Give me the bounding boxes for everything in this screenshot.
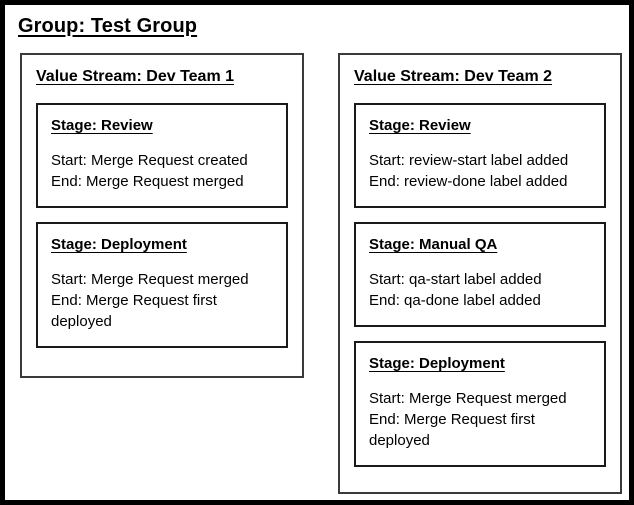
stage-start-event: Start: Merge Request merged (51, 269, 273, 290)
diagram-canvas: Group: Test Group Value Stream: Dev Team… (0, 0, 634, 505)
stage-title: Stage: Deployment (51, 236, 273, 253)
value-stream-panel: Value Stream: Dev Team 1 Stage: Review S… (20, 53, 304, 378)
value-stream-panel: Value Stream: Dev Team 2 Stage: Review S… (338, 53, 622, 494)
stage-box: Stage: Review Start: Merge Request creat… (36, 103, 288, 208)
stage-box: Stage: Deployment Start: Merge Request m… (36, 222, 288, 348)
stage-list: Stage: Review Start: Merge Request creat… (36, 103, 288, 348)
stage-end-event: End: Merge Request merged (51, 171, 273, 192)
value-stream-title: Value Stream: Dev Team 1 (36, 68, 234, 86)
stage-title: Stage: Review (51, 117, 273, 134)
stage-title: Stage: Review (369, 117, 591, 134)
stage-box: Stage: Review Start: review-start label … (354, 103, 606, 208)
stage-start-event: Start: Merge Request created (51, 150, 273, 171)
stage-end-event: End: Merge Request first deployed (51, 290, 273, 332)
group-title: Group: Test Group (18, 15, 197, 38)
stage-box: Stage: Deployment Start: Merge Request m… (354, 341, 606, 467)
stage-start-event: Start: Merge Request merged (369, 388, 591, 409)
stage-start-event: Start: review-start label added (369, 150, 591, 171)
stage-title: Stage: Deployment (369, 355, 591, 372)
stage-end-event: End: Merge Request first deployed (369, 409, 591, 451)
stage-end-event: End: qa-done label added (369, 290, 591, 311)
value-stream-title: Value Stream: Dev Team 2 (354, 68, 552, 86)
stage-list: Stage: Review Start: review-start label … (354, 103, 606, 467)
stage-box: Stage: Manual QA Start: qa-start label a… (354, 222, 606, 327)
stage-title: Stage: Manual QA (369, 236, 591, 253)
stage-start-event: Start: qa-start label added (369, 269, 591, 290)
stage-end-event: End: review-done label added (369, 171, 591, 192)
